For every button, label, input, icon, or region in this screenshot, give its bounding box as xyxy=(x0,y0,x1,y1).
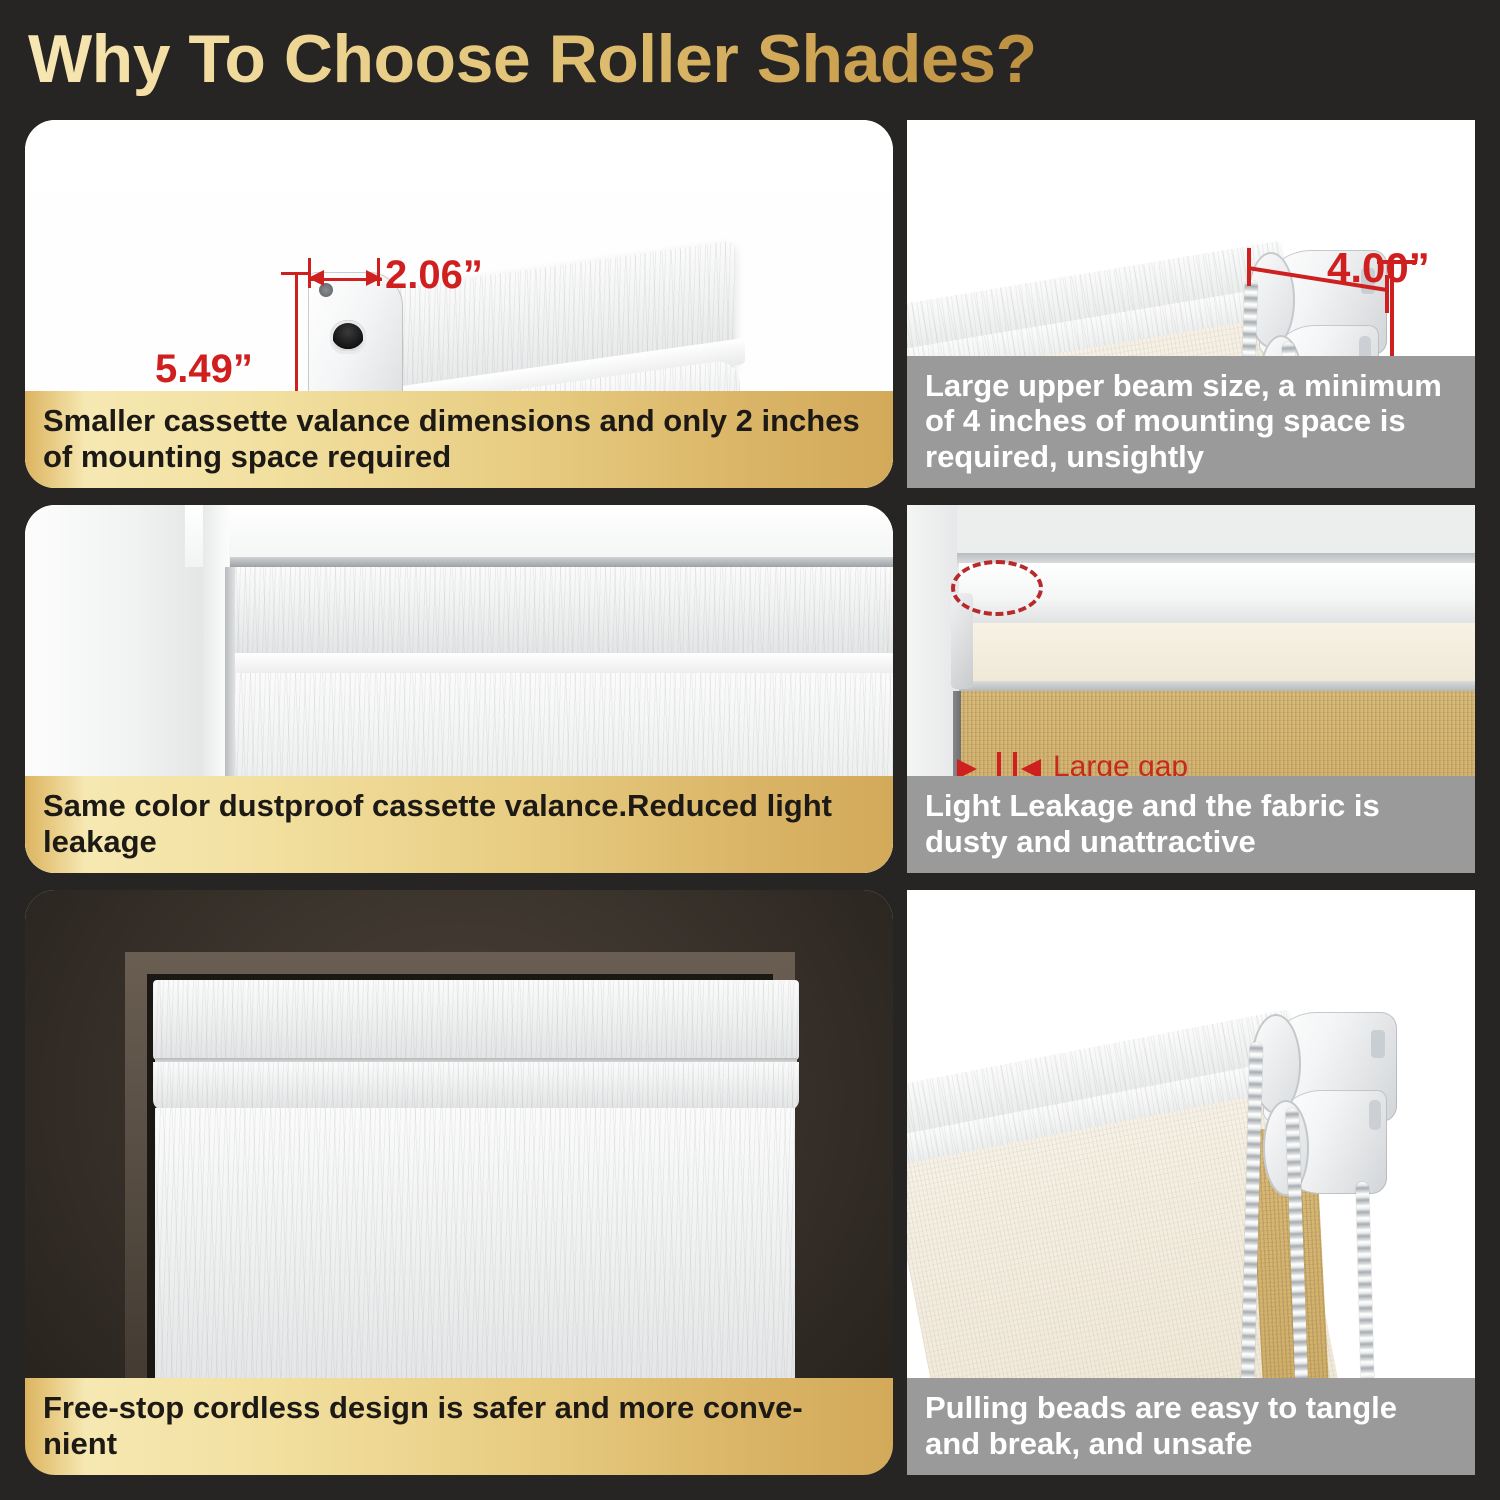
height-dimension-label: 5.49” xyxy=(155,347,253,392)
caption-bar-large-upper-beam: Large upper beam size, a minimum of 4 in… xyxy=(907,356,1475,488)
height-dim-tick-top xyxy=(281,272,311,275)
bracket-slot-icon xyxy=(330,320,366,354)
width-dim-arrow-right xyxy=(366,270,382,286)
caption-bar-pulling-beads: Pulling beads are easy to tangle and bre… xyxy=(907,1378,1475,1475)
gap-highlight-circle-icon xyxy=(951,560,1043,616)
caption-text: Large upper beam size, a minimum of 4 in… xyxy=(925,368,1457,474)
valance-cassette-bar xyxy=(230,557,893,567)
page-title: Why To Choose Roller Shades? xyxy=(28,20,1037,98)
bracket-keyhole-slot-icon xyxy=(1371,1030,1385,1058)
panel-pulling-beads: Pulling beads are easy to tangle and bre… xyxy=(907,890,1475,1475)
caption-bar-cordless-design: Free-stop cordless design is safer and m… xyxy=(25,1378,893,1475)
caption-bar-light-leakage: Light Leakage and the fabric is dusty an… xyxy=(907,776,1475,873)
shade-valance-lower-roll xyxy=(153,1062,799,1110)
valance-cream-face xyxy=(959,623,1475,685)
panel-cordless-design: Free-stop cordless design is safer and m… xyxy=(25,890,893,1475)
caption-text: Same color dustproof cassette valance.Re… xyxy=(43,788,875,859)
panel-smaller-cassette: 2.06” 5.49” Smaller cassette valance dim… xyxy=(25,120,893,488)
caption-bar-smaller-cassette: Smaller cassette valance dimensions and … xyxy=(25,391,893,488)
bracket-slot2-icon xyxy=(1369,1100,1381,1130)
caption-text: Free-stop cordless design is safer and m… xyxy=(43,1390,875,1461)
wall-background xyxy=(907,505,1475,557)
caption-text: Smaller cassette valance dimensions and … xyxy=(43,403,875,474)
panel-light-leakage: Large gap Light Leakage and the fabric i… xyxy=(907,505,1475,873)
shade-fabric-upper xyxy=(230,567,893,660)
width-dimension-label: 2.06” xyxy=(385,253,483,298)
shade-valance-top xyxy=(153,980,799,1060)
beam-width-dimension-label: 4.00” xyxy=(1327,244,1430,292)
panel-large-upper-beam: 4.00” 4.00” Large upper beam size, a min… xyxy=(907,120,1475,488)
caption-text: Pulling beads are easy to tangle and bre… xyxy=(925,1390,1457,1461)
valance-mid-rail xyxy=(230,653,893,675)
beam-height-tick-top xyxy=(1377,260,1417,264)
shade-fabric-main xyxy=(155,1108,795,1408)
infographic-page: Why To Choose Roller Shades? 2.06” xyxy=(0,0,1500,1500)
caption-text: Light Leakage and the fabric is dusty an… xyxy=(925,788,1457,859)
caption-bar-dustproof-valance: Same color dustproof cassette valance.Re… xyxy=(25,776,893,873)
panel-dustproof-valance: smaller gap Same color dustproof cassett… xyxy=(25,505,893,873)
